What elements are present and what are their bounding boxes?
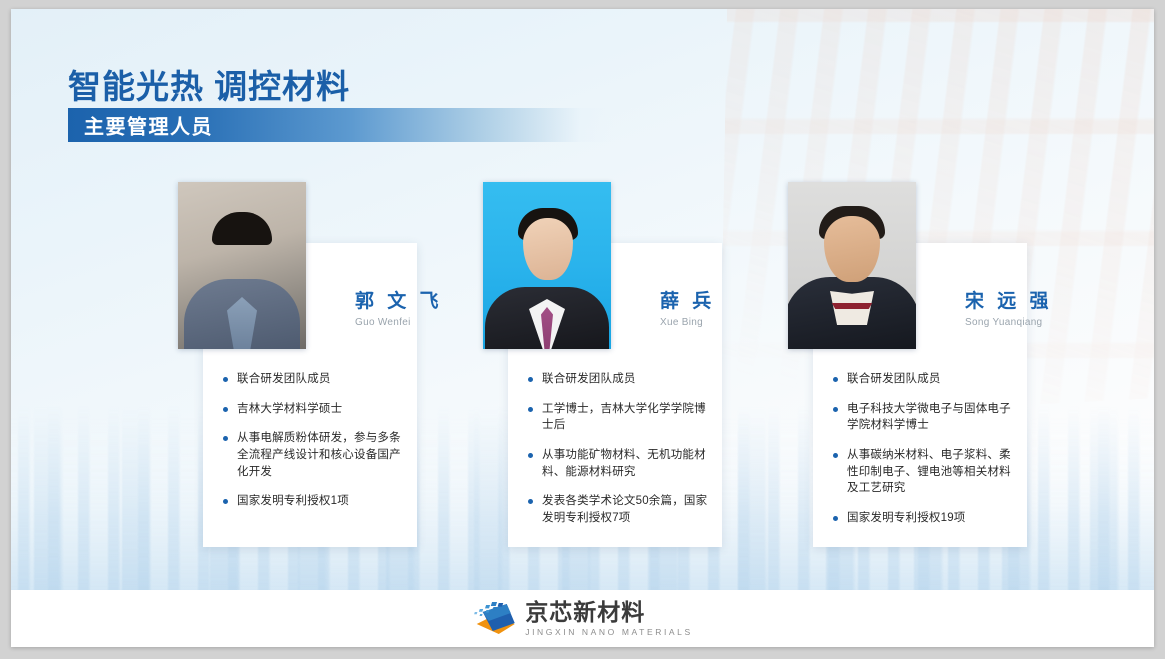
- company-logo: 京芯新材料 JINGXIN NANO MATERIALS: [472, 600, 693, 638]
- list-item: 国家发明专利授权19项: [833, 510, 1013, 527]
- list-item: 吉林大学材料学硕士: [223, 401, 403, 418]
- list-item-text: 从事碳纳米材料、电子浆料、柔性印制电子、锂电池等相关材料及工艺研究: [847, 449, 1011, 494]
- list-item-text: 联合研发团队成员: [542, 373, 636, 385]
- logo-text-block: 京芯新材料 JINGXIN NANO MATERIALS: [525, 600, 693, 636]
- list-item-text: 联合研发团队成员: [847, 373, 941, 385]
- bullet-dot-icon: [833, 377, 838, 382]
- list-item-text: 工学博士，吉林大学化学学院博士后: [542, 403, 706, 432]
- slide-canvas: 智能光热 调控材料 主要管理人员 郭 文 飞 Guo Wenfei: [11, 9, 1154, 590]
- list-item: 从事电解质粉体研发，参与多条全流程产线设计和核心设备国产化开发: [223, 430, 403, 480]
- name-block: 宋 远 强 Song Yuanqiang: [965, 291, 1135, 328]
- pixel-swoosh-logo-icon: [472, 600, 516, 638]
- bio-bullet-list: 联合研发团队成员 工学博士，吉林大学化学学院博士后 从事功能矿物材料、无机功能材…: [528, 371, 708, 527]
- list-item-text: 从事电解质粉体研发，参与多条全流程产线设计和核心设备国产化开发: [237, 432, 401, 477]
- slide-footer: 京芯新材料 JINGXIN NANO MATERIALS: [11, 590, 1154, 647]
- presentation-slide: 智能光热 调控材料 主要管理人员 郭 文 飞 Guo Wenfei: [11, 9, 1154, 647]
- bullet-dot-icon: [223, 377, 228, 382]
- page-title: 智能光热 调控材料: [68, 60, 350, 108]
- person-name-en: Song Yuanqiang: [965, 317, 1135, 328]
- list-item-text: 联合研发团队成员: [237, 373, 331, 385]
- person-name-cn: 宋 远 强: [965, 291, 1135, 314]
- logo-name-en: JINGXIN NANO MATERIALS: [525, 627, 693, 637]
- bullet-dot-icon: [528, 453, 533, 458]
- avatar-face: [216, 222, 268, 286]
- avatar-face: [824, 216, 880, 282]
- list-item-text: 国家发明专利授权1项: [237, 495, 349, 507]
- profile-person-3: 宋 远 强 Song Yuanqiang 联合研发团队成员 电子科技大学微电子与…: [776, 9, 1106, 590]
- screenshot-root: 智能光热 调控材料 主要管理人员 郭 文 飞 Guo Wenfei: [0, 0, 1165, 659]
- avatar-image: [483, 182, 611, 349]
- list-item-text: 发表各类学术论文50余篇，国家发明专利授权7项: [542, 495, 707, 524]
- avatar-collar-stripe: [830, 303, 874, 309]
- list-item-text: 国家发明专利授权19项: [847, 512, 966, 524]
- avatar: [178, 182, 306, 349]
- bullet-dot-icon: [223, 436, 228, 441]
- list-item: 从事碳纳米材料、电子浆料、柔性印制电子、锂电池等相关材料及工艺研究: [833, 447, 1013, 497]
- list-item-text: 从事功能矿物材料、无机功能材料、能源材料研究: [542, 449, 706, 478]
- bullet-dot-icon: [833, 516, 838, 521]
- bullet-dot-icon: [833, 453, 838, 458]
- subtitle-banner: 主要管理人员: [68, 108, 613, 142]
- list-item: 联合研发团队成员: [833, 371, 1013, 388]
- bio-bullet-list: 联合研发团队成员 电子科技大学微电子与固体电子学院材料学博士 从事碳纳米材料、电…: [833, 371, 1013, 527]
- avatar-image: [788, 182, 916, 349]
- bullet-dot-icon: [528, 377, 533, 382]
- list-item: 从事功能矿物材料、无机功能材料、能源材料研究: [528, 447, 708, 480]
- list-item: 国家发明专利授权1项: [223, 493, 403, 510]
- bullet-dot-icon: [528, 499, 533, 504]
- bullet-dot-icon: [223, 499, 228, 504]
- list-item: 电子科技大学微电子与固体电子学院材料学博士: [833, 401, 1013, 434]
- list-item: 联合研发团队成员: [223, 371, 403, 388]
- list-item: 工学博士，吉林大学化学学院博士后: [528, 401, 708, 434]
- bullet-dot-icon: [833, 407, 838, 412]
- avatar-image: [178, 182, 306, 349]
- list-item-text: 吉林大学材料学硕士: [237, 403, 342, 415]
- avatar: [788, 182, 916, 349]
- avatar-face: [523, 218, 573, 280]
- avatar: [483, 182, 611, 349]
- logo-name-cn: 京芯新材料: [525, 600, 693, 624]
- subtitle-label: 主要管理人员: [84, 111, 213, 140]
- bullet-dot-icon: [528, 407, 533, 412]
- list-item-text: 电子科技大学微电子与固体电子学院材料学博士: [847, 403, 1011, 432]
- list-item: 发表各类学术论文50余篇，国家发明专利授权7项: [528, 493, 708, 526]
- list-item: 联合研发团队成员: [528, 371, 708, 388]
- profile-person-2: 薛 兵 Xue Bing 联合研发团队成员 工学博士，吉林大学化学学院博士后: [471, 9, 801, 590]
- bullet-dot-icon: [223, 407, 228, 412]
- bio-bullet-list: 联合研发团队成员 吉林大学材料学硕士 从事电解质粉体研发，参与多条全流程产线设计…: [223, 371, 403, 510]
